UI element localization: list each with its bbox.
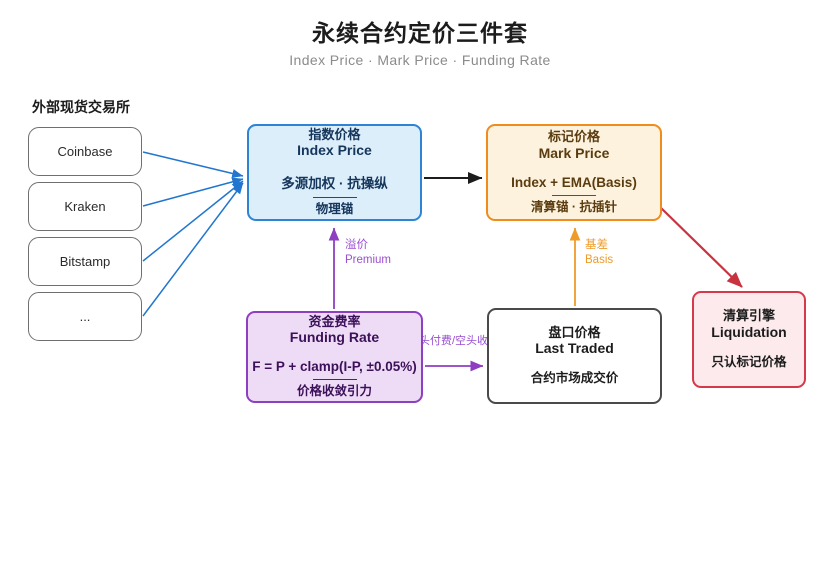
node-last-traded[interactable]: 盘口价格 Last Traded 合约市场成交价 bbox=[487, 308, 662, 404]
node-exchange-kraken-label: Kraken bbox=[64, 199, 105, 214]
node-index-price[interactable]: 指数价格 Index Price 多源加权 · 抗操纵 物理锚 bbox=[247, 124, 422, 221]
edge-label-premium: 溢价 Premium bbox=[345, 238, 391, 268]
node-funding-rate-title-en: Funding Rate bbox=[290, 329, 379, 346]
node-liquidation-title-en: Liquidation bbox=[711, 324, 786, 341]
node-mark-price-footer: 清算锚 · 抗插针 bbox=[531, 200, 617, 215]
diagram-canvas: 永续合约定价三件套 Index Price · Mark Price · Fun… bbox=[0, 0, 840, 564]
node-last-traded-footer: 合约市场成交价 bbox=[531, 371, 619, 386]
edge-label-premium-en: Premium bbox=[345, 253, 391, 268]
node-mark-price[interactable]: 标记价格 Mark Price Index + EMA(Basis) 清算锚 ·… bbox=[486, 124, 662, 221]
node-funding-rate-title-cn: 资金费率 bbox=[308, 314, 360, 329]
node-exchange-other[interactable]: ... bbox=[28, 292, 142, 341]
node-liquidation-title-cn: 清算引擎 bbox=[723, 308, 775, 323]
node-index-price-title-cn: 指数价格 bbox=[308, 127, 360, 142]
node-liquidation-footer: 只认标记价格 bbox=[711, 355, 786, 370]
node-index-price-divider bbox=[313, 197, 357, 198]
edge-coinbase-to-index bbox=[143, 152, 243, 176]
edge-mark-to-liquidation bbox=[659, 206, 742, 287]
node-exchange-bitstamp-label: Bitstamp bbox=[60, 254, 111, 269]
edge-label-basis: 基差 Basis bbox=[585, 238, 613, 268]
node-mark-price-middle: Index + EMA(Basis) bbox=[511, 175, 637, 190]
edge-label-basis-en: Basis bbox=[585, 253, 613, 268]
node-funding-rate-formula: F = P + clamp(I-P, ±0.05%) bbox=[252, 359, 417, 374]
node-mark-price-title-en: Mark Price bbox=[539, 145, 610, 162]
edge-label-premium-cn: 溢价 bbox=[345, 238, 391, 253]
node-exchange-coinbase-label: Coinbase bbox=[58, 144, 113, 159]
edge-label-basis-cn: 基差 bbox=[585, 238, 613, 253]
node-exchange-coinbase[interactable]: Coinbase bbox=[28, 127, 142, 176]
node-index-price-footer: 物理锚 bbox=[316, 202, 354, 217]
node-mark-price-title-cn: 标记价格 bbox=[548, 129, 600, 144]
node-exchange-other-label: ... bbox=[80, 309, 91, 324]
node-index-price-title-en: Index Price bbox=[297, 142, 372, 159]
node-mark-price-divider bbox=[552, 195, 596, 196]
node-funding-rate-footer: 价格收敛引力 bbox=[297, 384, 372, 399]
node-funding-rate-divider bbox=[313, 379, 357, 380]
node-index-price-middle: 多源加权 · 抗操纵 bbox=[281, 172, 388, 192]
node-funding-rate[interactable]: 资金费率 Funding Rate F = P + clamp(I-P, ±0.… bbox=[246, 311, 423, 403]
node-exchange-bitstamp[interactable]: Bitstamp bbox=[28, 237, 142, 286]
node-liquidation[interactable]: 清算引擎 Liquidation 只认标记价格 bbox=[692, 291, 806, 388]
node-last-traded-title-cn: 盘口价格 bbox=[548, 325, 600, 340]
node-last-traded-title-en: Last Traded bbox=[535, 340, 614, 357]
node-exchange-kraken[interactable]: Kraken bbox=[28, 182, 142, 231]
